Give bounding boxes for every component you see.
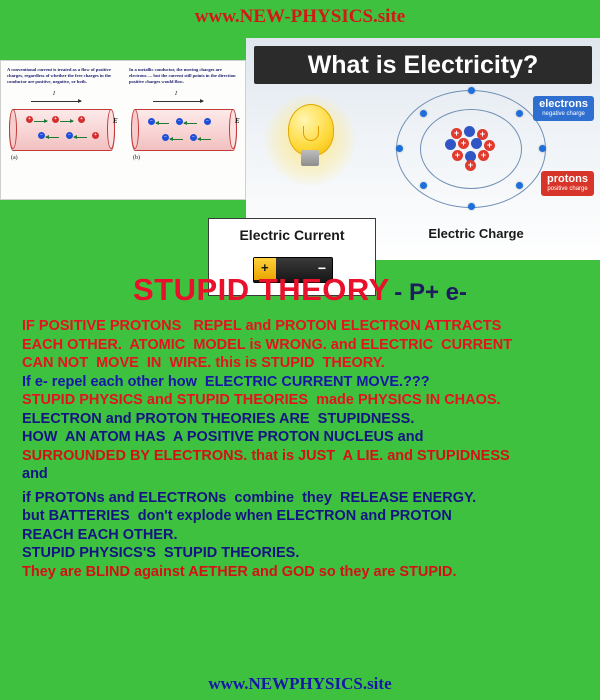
negative-charge: − bbox=[66, 132, 73, 139]
body-line: and bbox=[22, 466, 588, 484]
positive-charge: + bbox=[78, 116, 85, 123]
body-line: but BATTERIES don't explode when ELECTRO… bbox=[22, 508, 588, 526]
velocity-arrow bbox=[170, 139, 183, 140]
figure-caption-b: In a metallic conductor, the moving char… bbox=[129, 67, 237, 86]
protons-callout: protons positive charge bbox=[541, 171, 594, 196]
wire-diagram-a: + + + − − + bbox=[9, 109, 115, 151]
top-website-url: www.NEW-PHYSICS.site bbox=[0, 6, 600, 28]
neutron-particle bbox=[471, 138, 482, 149]
positive-charge: + bbox=[26, 116, 33, 123]
electron-dot bbox=[468, 87, 475, 94]
positive-charge: + bbox=[92, 132, 99, 139]
headline-stupid-theory: STUPID THEORY bbox=[133, 272, 390, 307]
body-line: They are BLIND against AETHER and GOD so… bbox=[22, 564, 588, 582]
current-symbol-b: I bbox=[175, 91, 177, 97]
velocity-arrow bbox=[156, 123, 169, 124]
positive-charge: + bbox=[52, 116, 59, 123]
protons-callout-subtitle: positive charge bbox=[547, 185, 588, 193]
body-line: STUPID PHYSICS and STUPID THEORIES made … bbox=[22, 392, 588, 410]
negative-charge: − bbox=[204, 118, 211, 125]
body-line: If e- repel each other how ELECTRIC CURR… bbox=[22, 374, 588, 392]
body-line: HOW AN ATOM HAS A POSITIVE PROTON NUCLEU… bbox=[22, 429, 588, 447]
body-line: REACH EACH OTHER. bbox=[22, 527, 588, 545]
poster-title-bar: What is Electricity? bbox=[254, 46, 592, 84]
body-line: STUPID PHYSICS'S STUPID THEORIES. bbox=[22, 545, 588, 563]
electron-dot bbox=[420, 182, 427, 189]
negative-charge: − bbox=[190, 134, 197, 141]
field-symbol-b: E bbox=[235, 117, 240, 125]
protons-callout-title: protons bbox=[547, 173, 588, 185]
velocity-arrow bbox=[34, 121, 47, 122]
electric-current-label: Electric Current bbox=[209, 227, 375, 243]
image-band: A conventional current is treated as a f… bbox=[0, 38, 600, 260]
velocity-arrow bbox=[60, 121, 73, 122]
bottom-website-url: www.NEWPHYSICS.site bbox=[0, 674, 600, 694]
electron-dot bbox=[516, 110, 523, 117]
negative-charge: − bbox=[148, 118, 155, 125]
body-line: if PROTONs and ELECTRONs combine they RE… bbox=[22, 490, 588, 508]
proton-particle: + bbox=[452, 150, 463, 161]
wire-diagram-b: − − − − − bbox=[131, 109, 237, 151]
conventional-current-figure: A conventional current is treated as a f… bbox=[0, 60, 246, 200]
figure-label-b: (b) bbox=[133, 155, 140, 161]
proton-particle: + bbox=[458, 138, 469, 149]
neutron-particle bbox=[464, 126, 475, 137]
proton-particle: + bbox=[478, 150, 489, 161]
velocity-arrow bbox=[198, 139, 211, 140]
figure-caption-a: A conventional current is treated as a f… bbox=[7, 67, 115, 86]
poster-title: What is Electricity? bbox=[254, 46, 592, 84]
electrons-callout-title: electrons bbox=[539, 98, 588, 110]
proton-particle: + bbox=[465, 160, 476, 171]
electron-dot bbox=[539, 145, 546, 152]
current-symbol-a: I bbox=[53, 91, 55, 97]
velocity-arrow bbox=[74, 137, 87, 138]
headline: STUPID THEORY - P+ e- bbox=[0, 272, 600, 308]
body-line: CAN NOT MOVE IN WIRE. this is STUPID THE… bbox=[22, 355, 588, 373]
electron-dot bbox=[396, 145, 403, 152]
body-line: IF POSITIVE PROTONS REPEL and PROTON ELE… bbox=[22, 318, 588, 336]
bulb-base bbox=[301, 150, 319, 166]
current-arrow-b bbox=[153, 101, 203, 102]
body-line: ELECTRON and PROTON THEORIES ARE STUPIDN… bbox=[22, 411, 588, 429]
body-line: SURROUNDED BY ELECTRONS. that is JUST A … bbox=[22, 448, 588, 466]
headline-particles: - P+ e- bbox=[394, 279, 467, 306]
atom-nucleus: + + + + + + + bbox=[445, 126, 497, 172]
body-text-block: IF POSITIVE PROTONS REPEL and PROTON ELE… bbox=[22, 318, 588, 582]
negative-charge: − bbox=[38, 132, 45, 139]
poster-page: www.NEW-PHYSICS.site A conventional curr… bbox=[0, 0, 600, 700]
figure-label-a: (a) bbox=[11, 155, 18, 161]
negative-charge: − bbox=[162, 134, 169, 141]
field-symbol-a: E bbox=[113, 117, 118, 125]
body-line: EACH OTHER. ATOMIC MODEL is WRONG. and E… bbox=[22, 337, 588, 355]
electrons-callout-subtitle: negative charge bbox=[539, 110, 588, 118]
electrons-callout: electrons negative charge bbox=[533, 96, 594, 121]
current-arrow-a bbox=[31, 101, 81, 102]
velocity-arrow bbox=[184, 123, 197, 124]
electron-dot bbox=[420, 110, 427, 117]
negative-charge: − bbox=[176, 118, 183, 125]
neutron-particle bbox=[445, 139, 456, 150]
velocity-arrow bbox=[46, 137, 59, 138]
electron-dot bbox=[516, 182, 523, 189]
electric-charge-caption: Electric Charge bbox=[396, 226, 556, 241]
electron-dot bbox=[468, 203, 475, 210]
atom-diagram: + + + + + + + bbox=[396, 90, 546, 208]
